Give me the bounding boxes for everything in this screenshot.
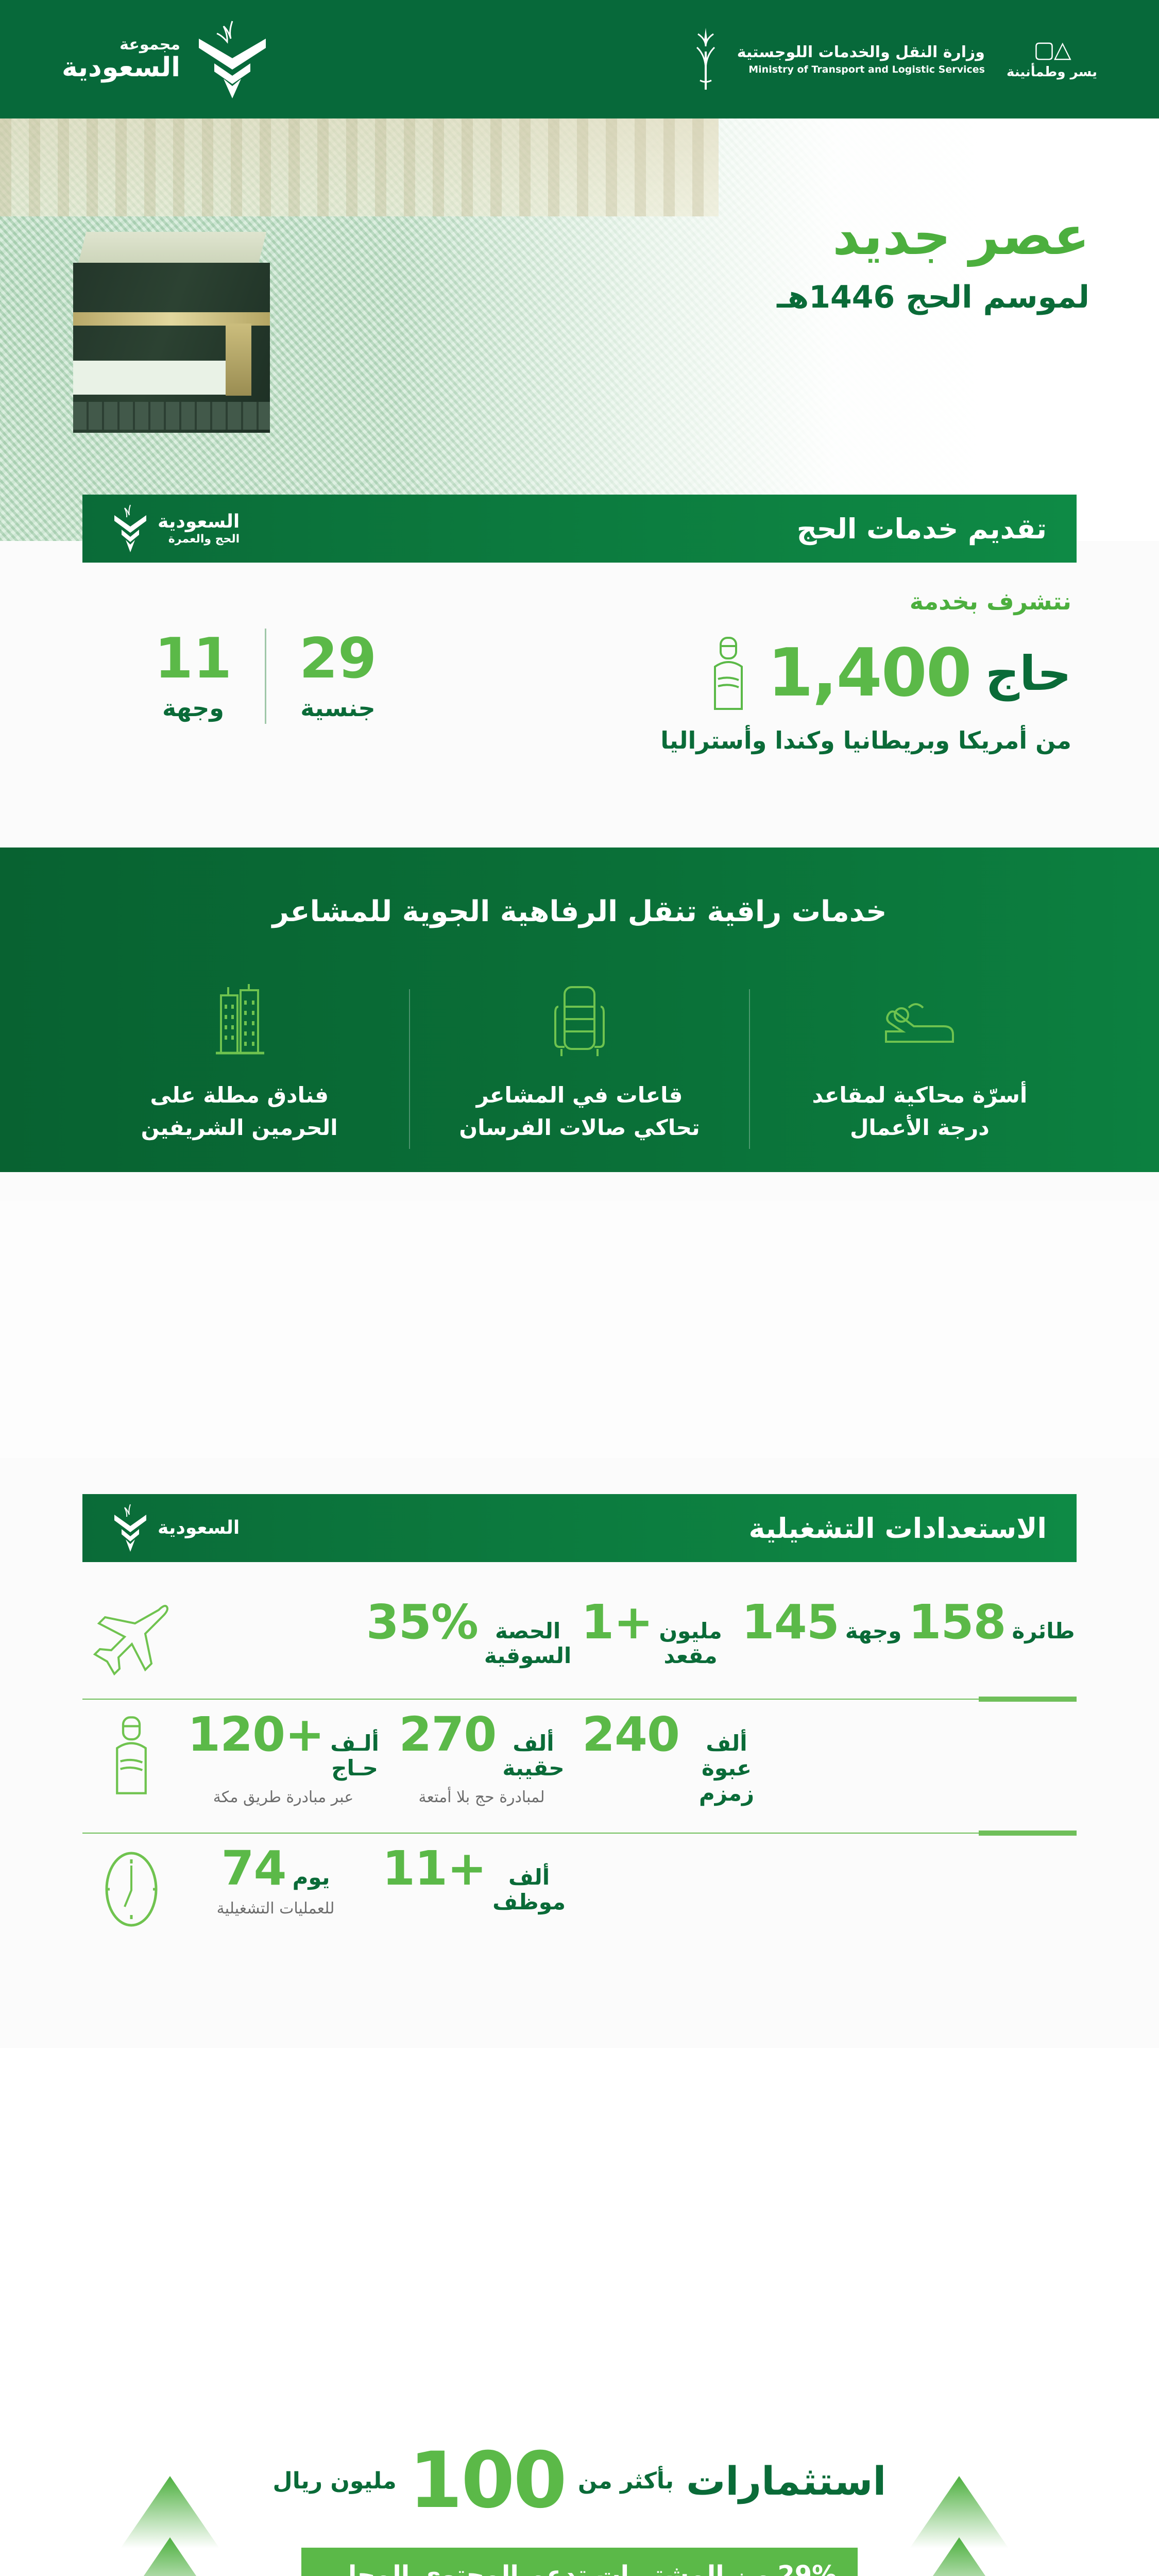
nationalities-number: 29 [284,631,392,687]
ops-stat-aircraft: طائرة 158 [907,1599,1077,1646]
nationalities-label: جنسية [284,694,392,722]
hajj-main-unit: حاج [985,646,1071,701]
ministry-logo: وزارة النقل والخدمات اللوجستية Ministry … [688,26,985,93]
ops-number: 35% [366,1599,478,1646]
clock-icon [82,1845,180,1930]
hero-title: عصر جديد [777,209,1089,264]
luxury-card-lounge: قاعات في المشاعر تحاكي صالات الفرسان [435,984,724,1144]
saudia-bird-icon [194,18,271,100]
armchair-icon [435,984,724,1061]
ops-number: 74 [221,1845,286,1892]
saudia-hajj-umrah-logo: السعودية الحج والعمرة [112,504,240,553]
ops-stat-seats: مليون مقعد +1 [567,1599,737,1669]
ops-divider [82,1697,1077,1702]
local-content-text: من المشتريات تدعم المحتوى المحلي [322,2561,771,2576]
header-left-logos: △▢ يسر وطمأنينة وزارة النقل والخدمات الل… [688,26,1097,93]
ops-stat-days: يوم 74 للعمليات التشغيلية [180,1845,371,1918]
hajj-note: من أمريكا وبريطانيا وكندا وأستراليا [660,726,1071,754]
ops-sublabel: لمبادرة حج بلا أمتعة [391,1788,572,1806]
pilgrim-icon [704,635,753,712]
ops-sublabel: للعمليات التشغيلية [185,1900,366,1918]
ministry-name-en: Ministry of Transport and Logistic Servi… [737,64,985,75]
hero-section: عصر جديد لموسم الحج 1446هـ [0,118,1159,541]
investment-amount: 100 [409,2442,566,2519]
ops-unit: ألف موظف [492,1865,566,1915]
ops-number: 270 [399,1711,496,1758]
luxury-card-hotels: فنادق مطلة على الحرمين الشريفين [95,984,384,1144]
yusr-logo-label: يسر وطمأنينة [1007,64,1097,80]
hajj-services-banner: تقديم خدمات الحج السعودية الحج والعمرة [82,495,1077,563]
saudia-group-logo: مجموعة السعودية [62,18,271,100]
palm-swords-emblem-icon [688,26,724,93]
ops-stat-makkah-route: ألـف حـاج +120 عبر مبادرة طريق مكة [180,1711,386,1806]
saudia-bird-small-icon [112,504,148,553]
saudia-logo-ops: السعودية [112,1503,240,1553]
stat-destinations: 11 وجهة [139,631,247,722]
yusr-logo: △▢ يسر وطمأنينة [1007,39,1097,80]
ops-unit: مليون مقعد [659,1619,722,1669]
luxury-card-bed: أسرّة محاكية لمقاعد درجة الأعمال [775,984,1064,1144]
luxury-card-bed-label: أسرّة محاكية لمقاعد درجة الأعمال [775,1079,1064,1144]
operations-row: ألف عبوة زمزم 240 ألف حقيبة 270 لمبادرة … [82,1702,1077,1813]
luxury-title: خدمات راقية تنقل الرفاهية الجوية للمشاعر [0,895,1159,928]
kaaba-illustration [61,232,282,453]
ops-unit: يوم [293,1865,330,1890]
hero-subtitle: لموسم الحج 1446هـ [777,279,1089,315]
saudia-bird-small-icon [112,1503,148,1553]
ops-unit: طائرة [1012,1619,1075,1643]
bed-icon [775,984,1064,1061]
hajj-logo-line1: السعودية [158,512,240,532]
ops-logo-text: السعودية [158,1518,240,1538]
ops-number: 145 [742,1599,839,1646]
ops-stat-employees: ألف موظف +11 [371,1845,577,1922]
luxury-card-lounge-label: قاعات في المشاعر تحاكي صالات الفرسان [435,1079,724,1144]
hajj-main-stat: حاج 1,400 [704,635,1071,712]
stat-nationalities: 29 جنسية [284,631,392,722]
hajj-banner-title: تقديم خدمات الحج [797,513,1047,545]
ops-stat-bags: ألف حقيبة 270 لمبادرة حج بلا أمتعة [386,1711,577,1806]
ops-divider [82,1831,1077,1836]
stats-divider [265,629,266,724]
ops-stat-destinations: وجهة 145 [737,1599,907,1646]
ministry-name-ar: وزارة النقل والخدمات اللوجستية [737,43,985,61]
ops-number: +120 [188,1711,324,1758]
destinations-number: 11 [139,631,247,687]
hajj-logo-line2: الحج والعمرة [158,533,240,545]
investment-headline: استثمارات بأكثر من 100 مليون ريال [0,2442,1159,2519]
hajj-stats-section: نتشرف بخدمة حاج 1,400 من أمريكا وبريطاني… [82,587,1077,809]
saudia-word: السعودية [62,54,180,82]
pilgrim-icon [82,1711,180,1797]
ops-stat-zamzam: ألف عبوة زمزم 240 [577,1711,773,1813]
luxury-cards: أسرّة محاكية لمقاعد درجة الأعمال قاعات ف… [82,984,1077,1149]
ops-unit: ألف عبوة زمزم [686,1731,768,1806]
ops-number: 158 [908,1599,1005,1646]
hajj-kicker: نتشرف بخدمة [910,587,1071,615]
luxury-services-section: خدمات راقية تنقل الرفاهية الجوية للمشاعر… [0,848,1159,1172]
mosque-arch-icon: △▢ [1033,39,1070,61]
investments-word: استثمارات [686,2458,887,2504]
operations-row: طائرة 158 وجهة 145 مليون مقعد +1 [82,1589,1077,1679]
buildings-icon [95,984,384,1061]
hajj-side-stats: 29 جنسية 11 وجهة [139,629,392,724]
ops-number: +11 [382,1845,486,1892]
local-content-chip: 29% من المشتريات تدعم المحتوى المحلي [301,2548,858,2576]
ops-unit: ألـف حـاج [330,1731,379,1781]
ops-sublabel: عبر مبادرة طريق مكة [185,1788,381,1806]
ops-unit: ألف حقيبة [502,1731,564,1781]
ops-unit: وجهة [845,1619,902,1643]
operations-banner: الاستعدادات التشغيلية السعودية [82,1494,1077,1562]
operations-banner-title: الاستعدادات التشغيلية [749,1512,1047,1545]
luxury-card-hotels-label: فنادق مطلة على الحرمين الشريفين [95,1079,384,1144]
group-word: مجموعة [62,37,180,53]
destinations-label: وجهة [139,694,247,722]
haram-arcade [0,118,719,216]
airplane-icon [82,1599,180,1679]
hero-text-block: عصر جديد لموسم الحج 1446هـ [777,209,1089,315]
ops-stat-market-share: الحصة السوقية 35% [371,1599,567,1669]
luxury-divider-1 [749,989,750,1149]
operations-section: طائرة 158 وجهة 145 مليون مقعد +1 [82,1589,1077,1930]
more-than-word: بأكثر من [578,2468,674,2494]
hajj-main-number: 1,400 [768,640,971,706]
ops-number: +1 [581,1599,653,1646]
investment-currency: مليون ريال [273,2468,397,2494]
page-header: △▢ يسر وطمأنينة وزارة النقل والخدمات الل… [0,0,1159,118]
investments-section: استثمارات بأكثر من 100 مليون ريال 29% من… [0,1200,1159,1458]
local-content-percent: 29% [777,2561,837,2576]
ops-unit: الحصة السوقية [484,1619,571,1669]
ops-number: 240 [582,1711,679,1758]
infographic-page: △▢ يسر وطمأنينة وزارة النقل والخدمات الل… [0,0,1159,2048]
luxury-divider-2 [409,989,410,1149]
operations-row: ألف موظف +11 يوم 74 للعمليات التشغيلية [82,1836,1077,1930]
